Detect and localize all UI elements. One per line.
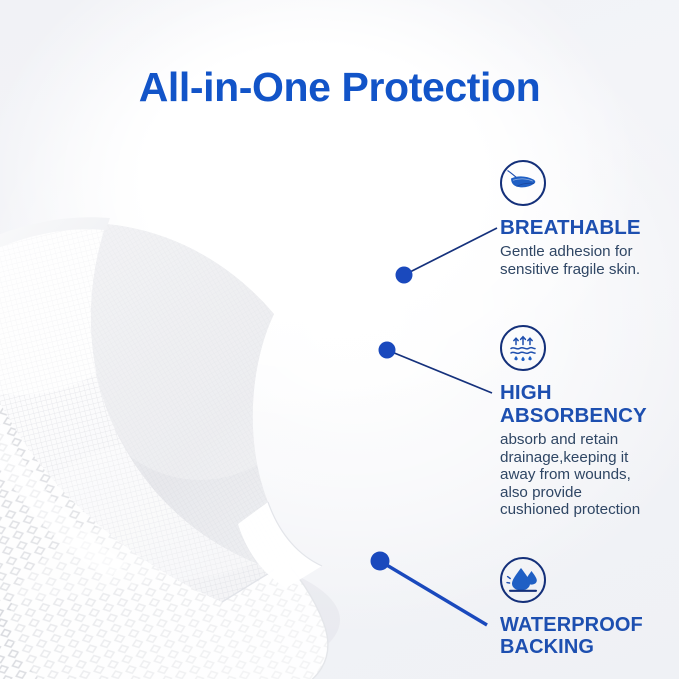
feature-breathable: BREATHABLE Gentle adhesion for sensitive… bbox=[500, 160, 676, 278]
feature-body: absorb and retain drainage,keeping it aw… bbox=[500, 431, 676, 519]
feature-waterproof: WATERPROOF BACKING bbox=[500, 557, 676, 662]
feature-title: BREATHABLE bbox=[500, 217, 676, 240]
page-title: All-in-One Protection bbox=[0, 64, 679, 111]
feature-absorbency: HIGH ABSORBENCY absorb and retain draina… bbox=[500, 325, 676, 519]
feature-body: Gentle adhesion for sensitive fragile sk… bbox=[500, 243, 676, 278]
water-drop-icon bbox=[500, 557, 546, 603]
infographic-canvas: BREATHABLE Gentle adhesion for sensitive… bbox=[0, 0, 679, 679]
product-image bbox=[0, 150, 530, 670]
feature-title: WATERPROOF BACKING bbox=[500, 614, 676, 659]
feather-icon bbox=[500, 160, 546, 206]
absorbency-waves-icon bbox=[500, 325, 546, 371]
feature-title: HIGH ABSORBENCY bbox=[500, 382, 676, 428]
